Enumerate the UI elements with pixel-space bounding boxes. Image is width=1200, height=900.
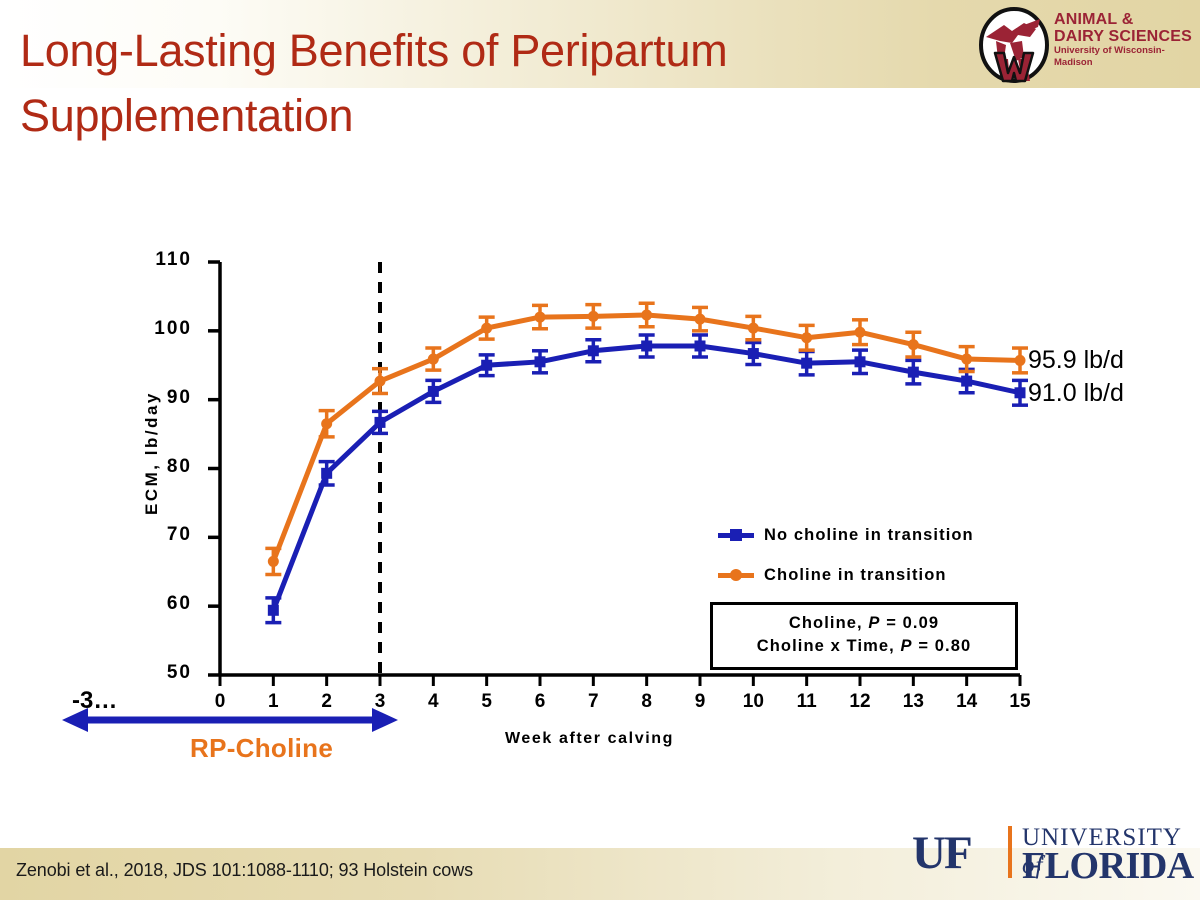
data-point [535,356,546,367]
legend-item-no-choline[interactable]: No choline in transition [718,520,974,550]
data-point [855,327,866,338]
data-point [801,332,812,343]
data-point [908,367,919,378]
x-axis-title: Week after calving [505,730,674,748]
uf-logo-divider [1008,826,1012,878]
data-point [855,356,866,367]
data-point [961,354,972,365]
uw-logo-line1: ANIMAL & [1054,11,1194,28]
y-tick-label: 90 [132,387,192,409]
x-tick-label: 7 [573,691,613,713]
x-tick-label: 8 [627,691,667,713]
stat-line-choline: Choline, P = 0.09 [717,612,1011,635]
x-tick-label: 6 [520,691,560,713]
chart-legend: No choline in transition Choline in tran… [718,520,974,600]
data-point [428,354,439,365]
uf-logo: UF UNIVERSITY of FLORIDA [912,822,1192,884]
data-point [641,340,652,351]
x-tick-label: 9 [680,691,720,713]
data-point [748,348,759,359]
chart-figure: ECM, lb/day Week after calving 506070809… [0,150,1200,800]
stat-line-choline-x-time: Choline x Time, P = 0.80 [717,635,1011,658]
data-point [428,386,439,397]
data-point [748,323,759,334]
x-tick-label: 14 [947,691,987,713]
data-point [481,360,492,371]
page-title: Long-Lasting Benefits of Peripartum Supp… [20,18,920,149]
footer-citation: Zenobi et al., 2018, JDS 101:1088-1110; … [16,860,473,881]
data-point [268,605,279,616]
uw-logo-line3: University of Wisconsin-Madison [1054,45,1194,69]
data-point [481,323,492,334]
x-tick-label: 2 [307,691,347,713]
data-point [1015,387,1026,398]
data-point [375,417,386,428]
legend-label-choline: Choline in transition [764,566,947,585]
stat-cxt-prefix: Choline x Time, [757,637,901,655]
y-tick-label: 50 [132,662,192,684]
legend-label-no-choline: No choline in transition [764,526,974,545]
x-tick-label: 10 [733,691,773,713]
uw-wordmark: ANIMAL & DAIRY SCIENCES University of Wi… [1054,11,1194,69]
y-axis-title: ECM, lb/day [142,391,162,515]
stat-choline-suffix: = 0.09 [881,614,940,632]
y-tick-label: 70 [132,524,192,546]
uw-madison-logo: ANIMAL & DAIRY SCIENCES University of Wi… [978,5,1193,85]
y-tick-label: 60 [132,593,192,615]
uf-florida-text: FLORIDA [1022,844,1194,888]
pre-calving-label: -3… [72,687,117,715]
data-point [321,418,332,429]
data-point [375,376,386,387]
x-tick-label: 15 [1000,691,1040,713]
legend-item-choline[interactable]: Choline in transition [718,560,974,590]
data-point [801,358,812,369]
uw-crest-icon [978,7,1050,83]
data-point [268,556,279,567]
orange-endpoint-label: 95.9 lb/d [1028,346,1124,375]
x-tick-label: 3 [360,691,400,713]
data-point [961,376,972,387]
title-banner: Long-Lasting Benefits of Peripartum Supp… [0,0,1200,88]
legend-marker-square-icon [718,527,754,543]
x-tick-label: 12 [840,691,880,713]
data-point [641,310,652,321]
data-point [908,339,919,350]
statistics-box: Choline, P = 0.09 Choline x Time, P = 0.… [710,602,1018,670]
x-tick-label: 5 [467,691,507,713]
blue-endpoint-label: 91.0 lb/d [1028,379,1124,408]
y-tick-label: 110 [132,249,192,271]
stat-cxt-pvar: P [901,637,913,655]
x-tick-label: 0 [200,691,240,713]
y-tick-label: 100 [132,318,192,340]
y-tick-label: 80 [132,456,192,478]
data-point [695,340,706,351]
y-axis-ticks [208,262,220,675]
x-tick-label: 1 [253,691,293,713]
x-tick-label: 11 [787,691,827,713]
data-point [321,468,332,479]
data-point [535,312,546,323]
legend-marker-circle-icon [718,567,754,583]
stat-choline-prefix: Choline, [789,614,869,632]
rp-choline-treatment-label: RP-Choline [190,733,333,764]
data-point [588,345,599,356]
data-point [1015,355,1026,366]
uf-monogram: UF [912,826,971,880]
uw-logo-line2: DAIRY SCIENCES [1054,28,1194,45]
x-tick-label: 4 [413,691,453,713]
data-point [588,311,599,322]
stat-cxt-suffix: = 0.80 [913,637,972,655]
data-point [695,314,706,325]
x-tick-label: 13 [893,691,933,713]
stat-choline-pvar: P [868,614,880,632]
